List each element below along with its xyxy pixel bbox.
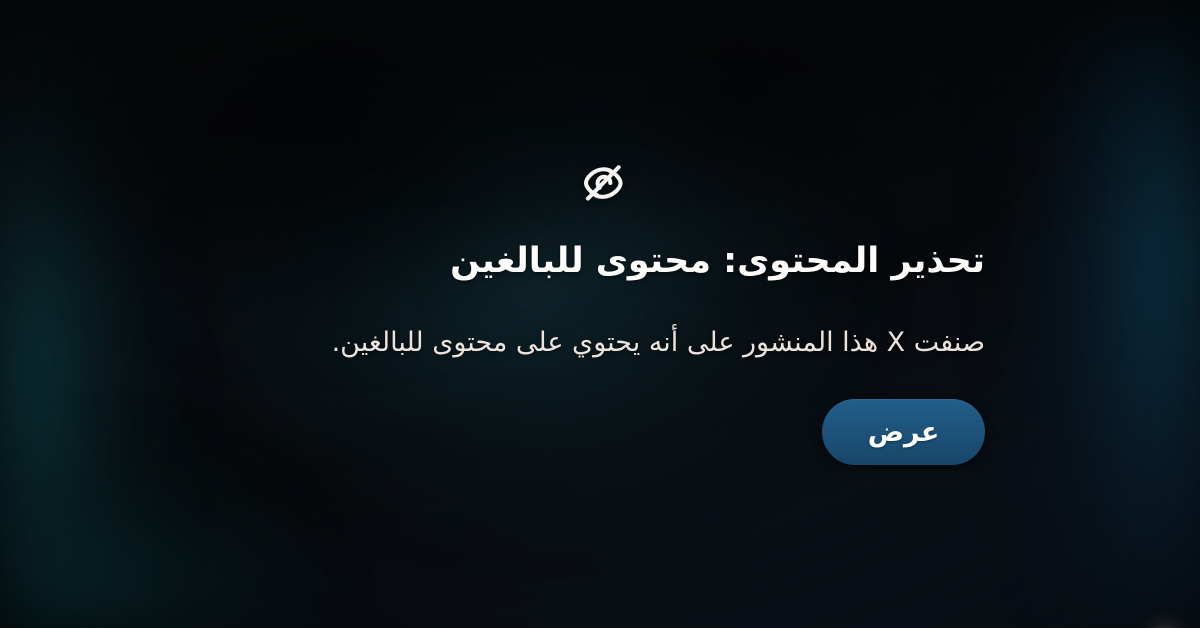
warning-description: صنفت X هذا المنشور على أنه يحتوي على محت… xyxy=(185,325,985,361)
content-warning-screen: تحذير المحتوى: محتوى للبالغين صنفت X هذا… xyxy=(0,0,1200,628)
view-button[interactable]: عرض xyxy=(822,399,985,465)
page-title: تحذير المحتوى: محتوى للبالغين xyxy=(185,240,985,284)
content-warning-card: تحذير المحتوى: محتوى للبالغين صنفت X هذا… xyxy=(0,0,1200,628)
eye-off-icon xyxy=(576,157,630,209)
